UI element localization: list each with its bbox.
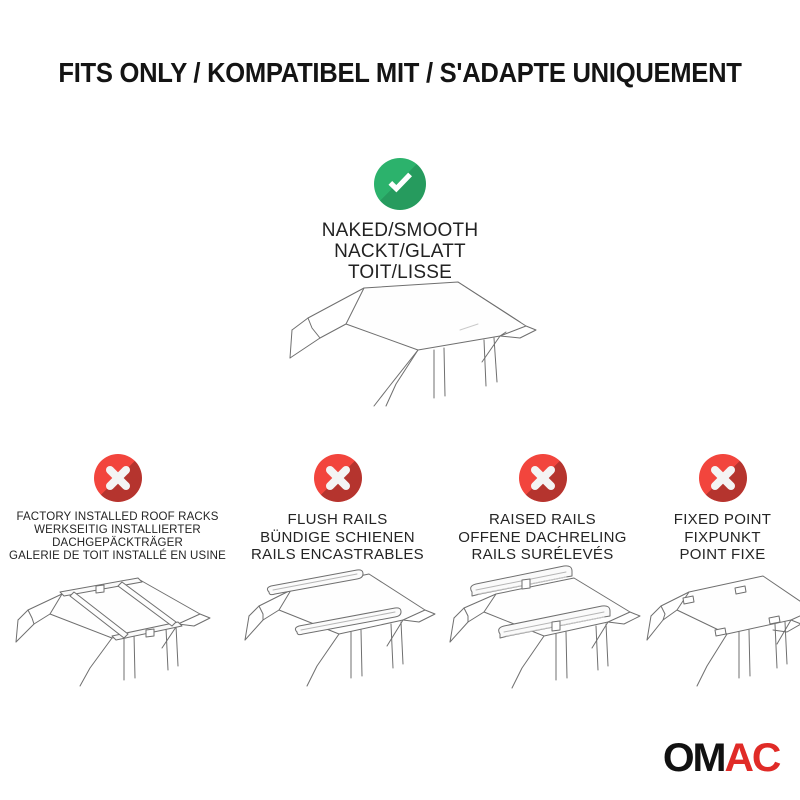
logo-text-dark: OM xyxy=(663,736,725,780)
label-line-2: BÜNDIGE SCHIENEN xyxy=(251,529,424,547)
incompatible-item-factory-roof-racks: FACTORY INSTALLED ROOF RACKS WERKSEITIG … xyxy=(0,454,235,563)
label-line-2: WERKSEITIG INSTALLIERTER xyxy=(9,524,226,537)
logo-text-red: AC xyxy=(724,736,779,780)
page-title: FITS ONLY / KOMPATIBEL MIT / S'ADAPTE UN… xyxy=(28,57,772,89)
car-roof-fixed-point-illustration xyxy=(645,552,800,692)
label-line-1: RAISED RAILS xyxy=(458,511,626,529)
compatible-labels: NAKED/SMOOTH NACKT/GLATT TOIT/LISSE xyxy=(322,220,479,283)
incompatible-item-raised-rails: RAISED RAILS OFFENE DACHRELING RAILS SUR… xyxy=(440,454,645,564)
label-line-2: FIXPUNKT xyxy=(674,529,771,547)
label-line-1: FACTORY INSTALLED ROOF RACKS xyxy=(9,511,226,524)
car-roof-smooth-illustration xyxy=(268,278,568,413)
label-line-2: OFFENE DACHRELING xyxy=(458,529,626,547)
incompatible-item-fixed-point: FIXED POINT FIXPUNKT POINT FIXE xyxy=(645,454,800,564)
cross-circle-icon xyxy=(314,454,362,502)
incompatible-row: FACTORY INSTALLED ROOF RACKS WERKSEITIG … xyxy=(0,454,800,564)
car-roof-raised-rails-illustration xyxy=(440,552,645,692)
compatible-label-de: NACKT/GLATT xyxy=(334,241,466,262)
label-line-3: DACHGEPÄCKTRÄGER xyxy=(9,537,226,550)
cross-circle-icon xyxy=(94,454,142,502)
label-line-1: FIXED POINT xyxy=(674,511,771,529)
cross-circle-icon xyxy=(519,454,567,502)
omac-logo: OMAC xyxy=(663,738,780,778)
label-line-1: FLUSH RAILS xyxy=(251,511,424,529)
check-circle-icon xyxy=(374,158,426,210)
car-roof-flush-rails-illustration xyxy=(235,552,440,692)
compatible-block: NAKED/SMOOTH NACKT/GLATT TOIT/LISSE xyxy=(0,158,800,283)
compatible-label-en: NAKED/SMOOTH xyxy=(322,220,479,241)
car-roof-factory-racks-illustration xyxy=(0,552,235,692)
incompatible-illustration-row xyxy=(0,552,800,692)
incompatible-item-flush-rails: FLUSH RAILS BÜNDIGE SCHIENEN RAILS ENCAS… xyxy=(235,454,440,564)
cross-circle-icon xyxy=(699,454,747,502)
